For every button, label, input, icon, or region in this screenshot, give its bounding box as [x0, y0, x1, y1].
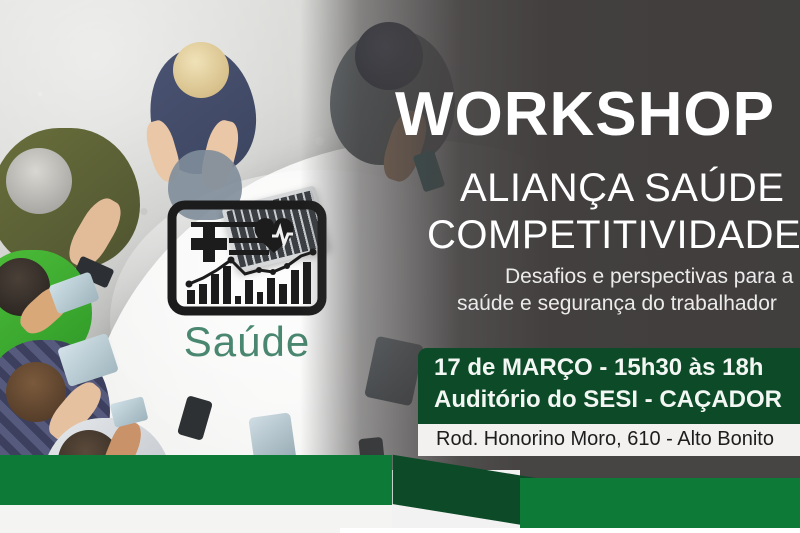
event-datetime: 17 de MARÇO - 15h30 às 18h	[434, 354, 763, 382]
subtitle-line-competitividade: COMPETITIVIDADE	[427, 215, 800, 255]
event-info-box: 17 de MARÇO - 15h30 às 18h Auditório do …	[418, 348, 800, 424]
green-band-right	[520, 478, 800, 528]
description-line-2: saúde e segurança do trabalhador	[457, 292, 777, 316]
gray-strip-right	[520, 456, 800, 479]
address-bar: Rod. Honorino Moro, 610 - Alto Bonito	[418, 424, 800, 456]
workshop-poster: Saúde WORKSHOP ALIANÇA SAÚDE COMPETITIVI…	[0, 0, 800, 533]
page-title: WORKSHOP	[395, 84, 775, 146]
green-band-left	[0, 455, 392, 505]
subtitle-line-alianca: ALIANÇA SAÚDE	[460, 168, 784, 208]
white-footer-right	[340, 528, 800, 533]
white-footer-left	[0, 505, 392, 533]
description-line-1: Desafios e perspectivas para a	[505, 265, 793, 289]
event-venue: Auditório do SESI - CAÇADOR	[434, 386, 782, 414]
head	[173, 42, 229, 98]
poster-text-block: WORKSHOP ALIANÇA SAÚDE COMPETITIVIDADE D…	[300, 0, 800, 470]
address-text: Rod. Honorino Moro, 610 - Alto Bonito	[436, 428, 774, 451]
head-gray-hair	[6, 148, 72, 214]
